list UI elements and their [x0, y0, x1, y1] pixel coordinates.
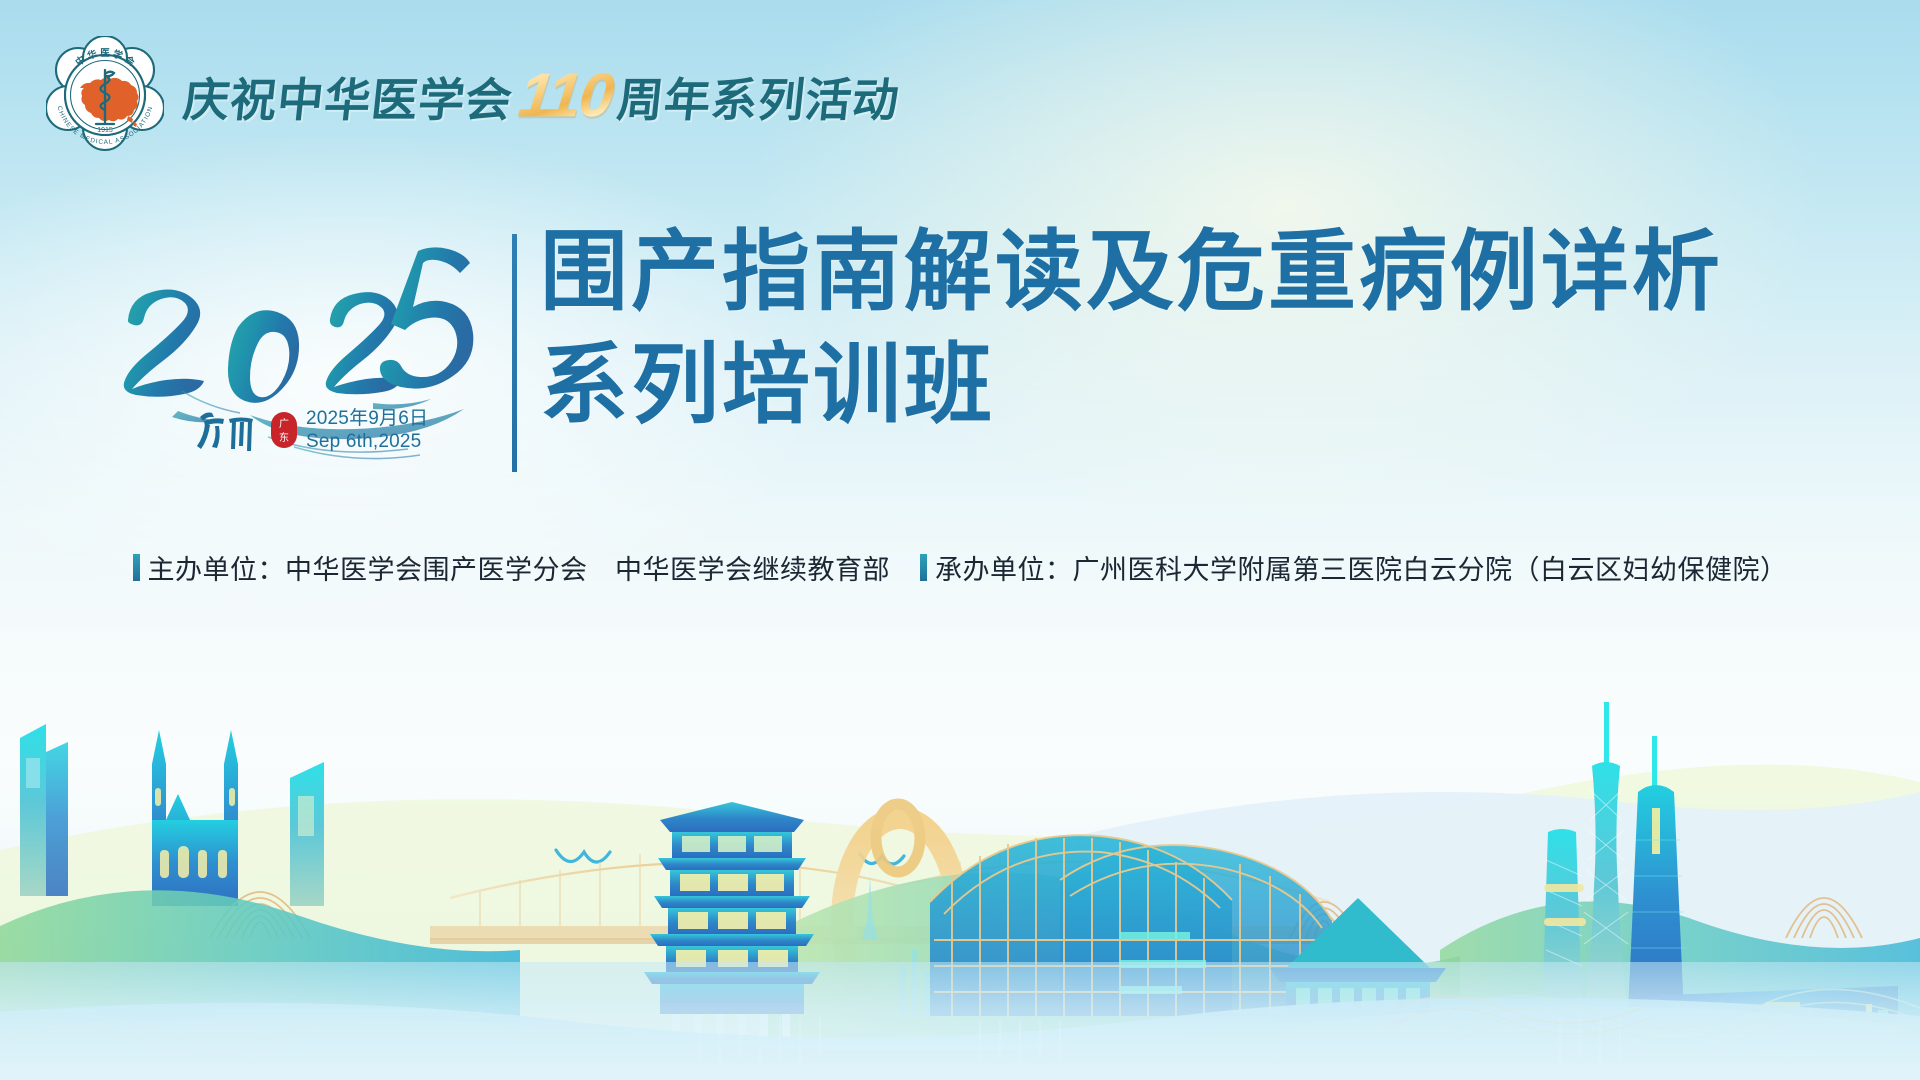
seal-stamp-guangdong: 广 东: [269, 410, 299, 450]
event-title-line1: 围产指南解读及危重病例详析: [540, 216, 1723, 329]
header-title: 庆祝中华医学会 110 周年系列活动: [180, 60, 903, 131]
host-organization: 主办单位： 中华医学会围产医学分会 中华医学会继续教育部: [133, 548, 891, 587]
logo-year: 1915: [97, 127, 113, 134]
guangzhou-skyline-illustration: [0, 520, 1920, 1080]
seal-char-1: 广: [279, 418, 289, 430]
host-label: 主办单位：: [148, 548, 286, 587]
event-date: 2025年9月6日 Sep 6th,2025: [306, 407, 428, 453]
guangzhou-ifc-tower: [20, 724, 68, 896]
organizer-value: 广州医科大学附属第三医院白云分院（白云区妇幼保健院）: [1073, 548, 1788, 587]
hero-block: 广 东 2025年9月6日 Sep 6th,2025 围产指南解读及危重病例详析…: [0, 250, 1920, 550]
host-value: 中华医学会围产医学分会 中华医学会继续教育部: [285, 548, 890, 587]
bullet-tick-icon: [133, 554, 140, 581]
header-title-number: 110: [509, 60, 621, 131]
title-divider: [512, 234, 517, 472]
organizer-label: 承办单位：: [935, 548, 1073, 587]
city-calligraphy-guangzhou: [196, 405, 262, 455]
event-title-line2: 系列培训班: [540, 329, 1723, 442]
header-title-suffix: 周年系列活动: [614, 64, 903, 130]
undertaking-organization: 承办单位： 广州医科大学附属第三医院白云分院（白云区妇幼保健院）: [920, 548, 1788, 587]
banner-canvas: 中 华 医 学 会 CHINESE MEDICAL ASSOCIATION 19…: [0, 0, 1920, 1080]
canton-tower: [1584, 702, 1628, 1014]
event-title: 围产指南解读及危重病例详析 系列培训班: [540, 216, 1723, 441]
seal-char-2: 东: [279, 431, 289, 444]
event-date-cn: 2025年9月6日: [306, 407, 428, 430]
cma-logo: 中 华 医 学 会 CHINESE MEDICAL ASSOCIATION 19…: [46, 36, 164, 154]
header-bar: 中 华 医 学 会 CHINESE MEDICAL ASSOCIATION 19…: [46, 36, 900, 154]
bullet-tick-icon: [920, 554, 927, 581]
header-title-prefix: 庆祝中华医学会: [180, 64, 516, 130]
organizer-line: 主办单位： 中华医学会围产医学分会 中华医学会继续教育部 承办单位： 广州医科大…: [0, 548, 1920, 587]
skyscraper-slab: [290, 762, 324, 906]
event-date-en: Sep 6th,2025: [306, 430, 428, 453]
date-and-city: 广 东 2025年9月6日 Sep 6th,2025: [196, 405, 428, 455]
